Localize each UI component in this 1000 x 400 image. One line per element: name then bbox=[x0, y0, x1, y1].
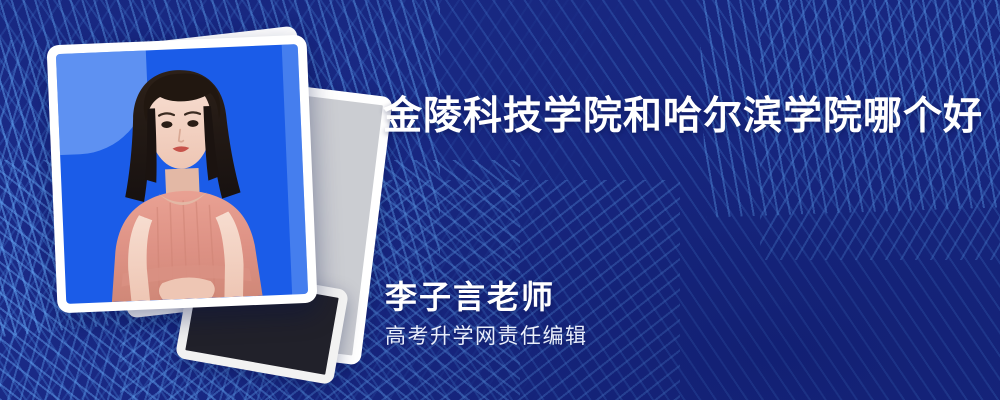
author-photo bbox=[56, 44, 308, 304]
banner-text-column: 金陵科技学院和哈尔滨学院哪个好 李子言老师 高考升学网责任编辑 bbox=[383, 0, 983, 400]
author-role: 高考升学网责任编辑 bbox=[385, 320, 588, 350]
author-photo-frame bbox=[47, 35, 318, 314]
author-portrait-illustration bbox=[56, 44, 308, 304]
article-author-banner: 金陵科技学院和哈尔滨学院哪个好 李子言老师 高考升学网责任编辑 bbox=[0, 0, 1000, 400]
author-name: 李子言老师 bbox=[385, 272, 555, 318]
author-photo-stack bbox=[52, 40, 342, 360]
page-title: 金陵科技学院和哈尔滨学院哪个好 bbox=[383, 94, 973, 140]
